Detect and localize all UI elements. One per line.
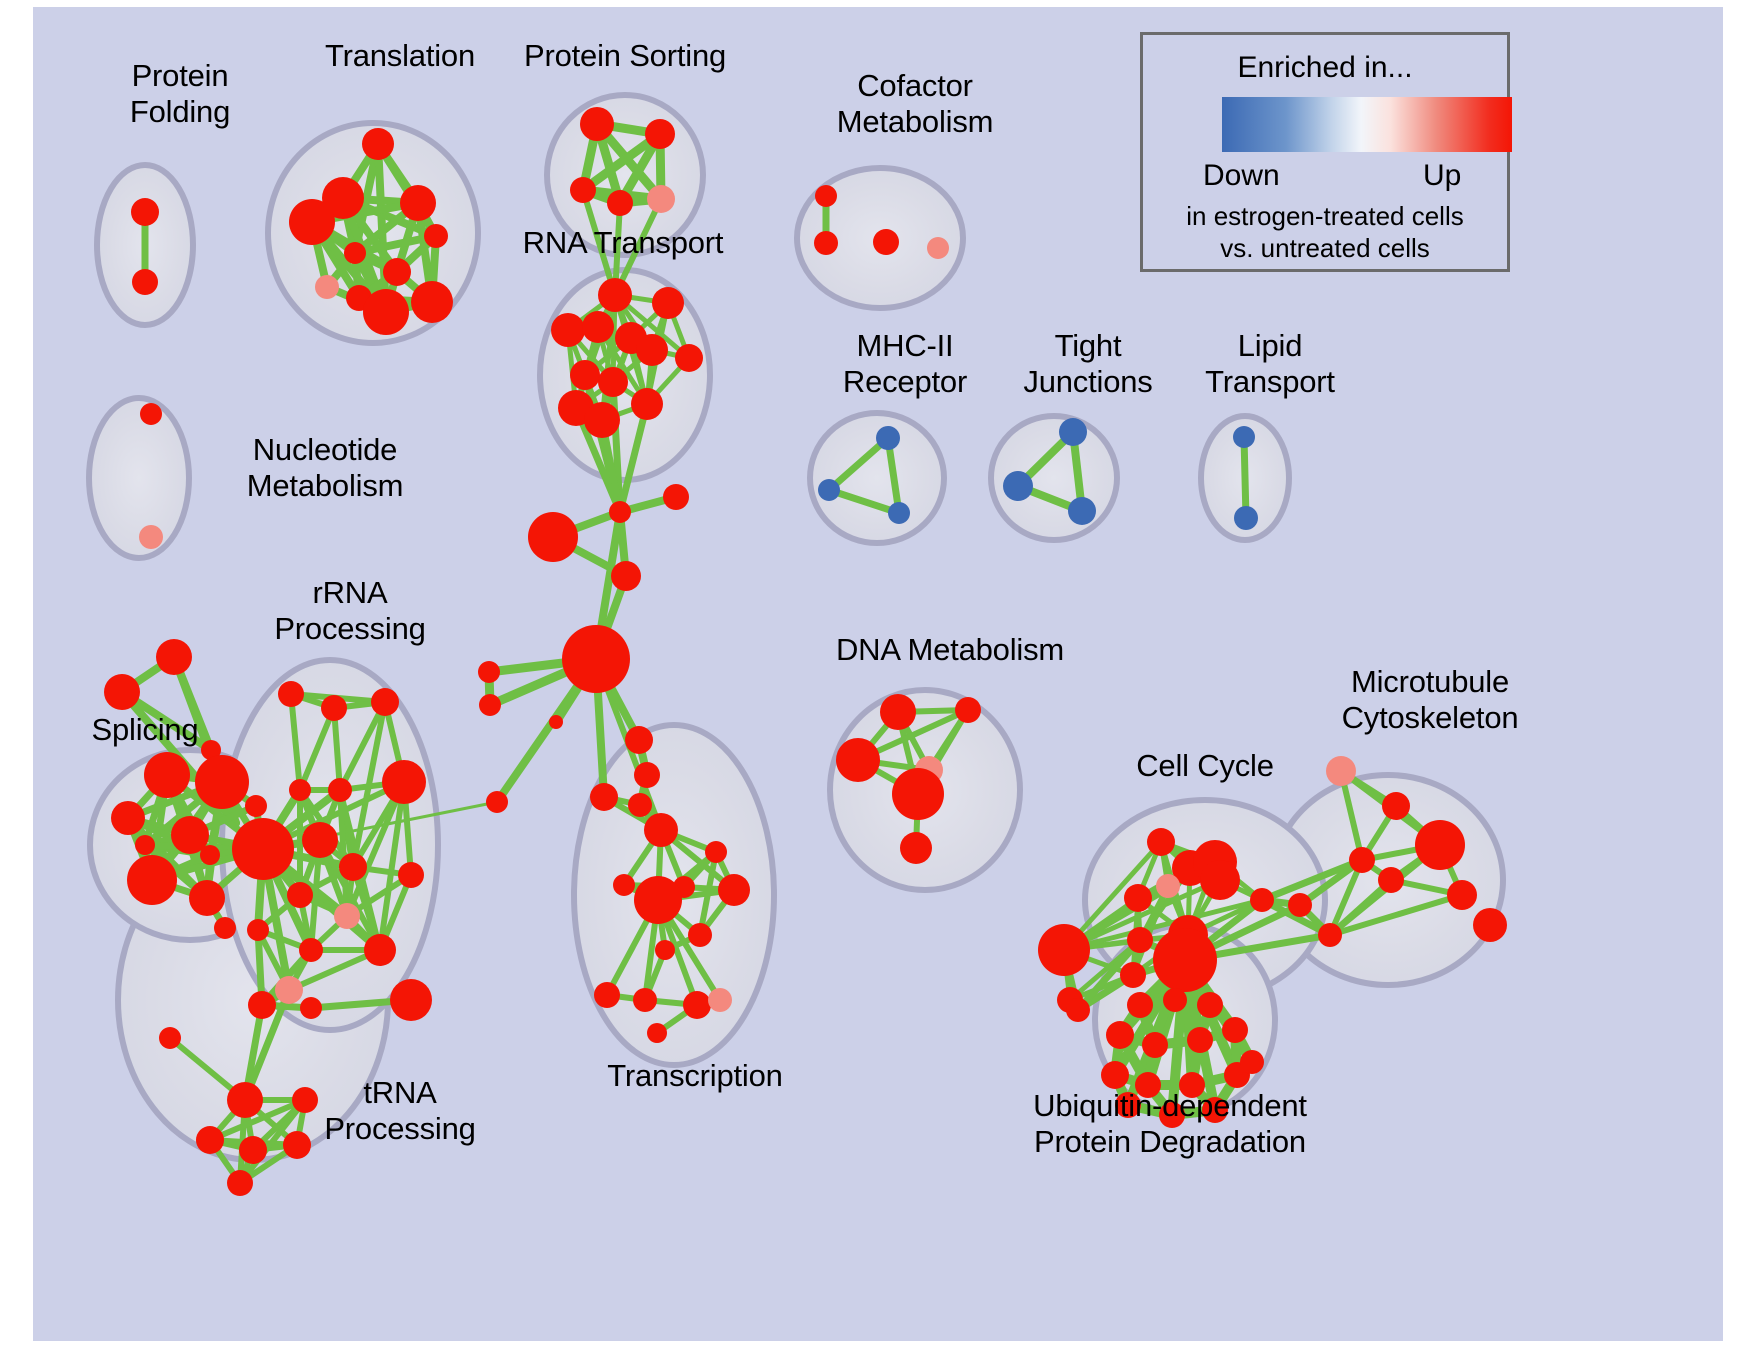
node: [248, 991, 276, 1019]
node: [1318, 923, 1342, 947]
node: [570, 177, 596, 203]
node: [300, 997, 322, 1019]
cluster-label-ubiquitin-degradation: Ubiquitin-dependent Protein Degradation: [980, 1088, 1360, 1160]
cluster-label-rna-transport: RNA Transport: [498, 225, 748, 261]
node: [1106, 1021, 1134, 1049]
cluster-label-transcription: Transcription: [570, 1058, 820, 1094]
node: [339, 853, 367, 881]
node: [232, 818, 294, 880]
node: [1222, 1017, 1248, 1043]
node: [478, 661, 500, 683]
node: [582, 311, 614, 343]
node: [398, 862, 424, 888]
node: [634, 876, 682, 924]
node: [955, 697, 981, 723]
cluster-label-cofactor-metabolism: Cofactor Metabolism: [790, 68, 1040, 140]
network-figure: Protein Folding Translation Protein Sort…: [0, 0, 1750, 1360]
node: [214, 917, 236, 939]
node: [275, 976, 303, 1004]
node: [1197, 992, 1223, 1018]
node: [371, 688, 399, 716]
legend-subtitle-line1: in estrogen-treated cells: [1143, 201, 1507, 232]
node: [1473, 908, 1507, 942]
node: [645, 119, 675, 149]
node: [1101, 1061, 1129, 1089]
node: [625, 726, 653, 754]
node: [613, 874, 635, 896]
node: [1156, 874, 1180, 898]
node: [880, 694, 916, 730]
node: [1234, 506, 1258, 530]
node: [888, 502, 910, 524]
node: [411, 281, 453, 323]
node: [328, 778, 352, 802]
node: [818, 479, 840, 501]
node: [1240, 1050, 1264, 1074]
node: [900, 832, 932, 864]
cluster-label-trna-processing: tRNA Processing: [300, 1075, 500, 1147]
node: [570, 360, 600, 390]
node: [590, 783, 618, 811]
node: [239, 1136, 267, 1164]
cluster-label-cell-cycle: Cell Cycle: [1105, 748, 1305, 784]
legend-subtitle-line2: vs. untreated cells: [1143, 233, 1507, 264]
node: [647, 185, 675, 213]
node: [598, 367, 628, 397]
node: [1233, 426, 1255, 448]
cluster-halo-mhc-ii-receptor: [810, 413, 944, 543]
node: [836, 738, 880, 782]
node: [247, 919, 269, 941]
node: [195, 755, 249, 809]
node: [1124, 884, 1152, 912]
node: [628, 793, 652, 817]
node: [892, 768, 944, 820]
node: [1288, 893, 1312, 917]
node: [549, 715, 563, 729]
node: [663, 484, 689, 510]
node: [1250, 888, 1274, 912]
cluster-label-translation: Translation: [280, 38, 520, 74]
node: [400, 185, 436, 221]
node: [1003, 471, 1033, 501]
node: [1127, 992, 1153, 1018]
legend-title: Enriched in...: [1143, 51, 1507, 85]
node: [344, 242, 366, 264]
node: [1447, 880, 1477, 910]
node: [334, 903, 360, 929]
cluster-halo-nucleotide-metabolism: [89, 398, 189, 558]
node: [1059, 418, 1087, 446]
node: [424, 224, 448, 248]
node: [1382, 792, 1410, 820]
node: [363, 289, 409, 335]
node: [1349, 847, 1375, 873]
legend-up-label: Up: [1423, 159, 1461, 193]
node: [156, 639, 192, 675]
node: [1378, 867, 1404, 893]
node: [611, 561, 641, 591]
node: [594, 982, 620, 1008]
node: [245, 795, 267, 817]
cluster-label-splicing: Splicing: [55, 712, 235, 748]
node: [528, 512, 578, 562]
node: [580, 107, 614, 141]
node: [131, 198, 159, 226]
node: [708, 988, 732, 1012]
node: [1120, 962, 1146, 988]
node: [364, 934, 396, 966]
node: [584, 402, 620, 438]
node: [127, 855, 177, 905]
node: [1068, 497, 1096, 525]
legend-down-label: Down: [1203, 159, 1280, 193]
node: [135, 835, 155, 855]
node: [1415, 820, 1465, 870]
node: [633, 988, 657, 1012]
node: [551, 313, 585, 347]
node: [321, 695, 347, 721]
cluster-label-lipid-transport: Lipid Transport: [1160, 328, 1380, 400]
node: [299, 938, 323, 962]
node: [302, 822, 338, 858]
node: [683, 991, 711, 1019]
node: [647, 1023, 667, 1043]
cluster-label-rrna-processing: rRNA Processing: [245, 575, 455, 647]
node: [289, 199, 335, 245]
node: [382, 760, 426, 804]
node: [132, 269, 158, 295]
legend-box: Enriched in... Down Up in estrogen-treat…: [1140, 32, 1510, 272]
node: [718, 874, 750, 906]
node: [1147, 828, 1175, 856]
node: [1153, 928, 1217, 992]
node: [1142, 1032, 1168, 1058]
node: [598, 278, 632, 312]
node: [287, 882, 313, 908]
cluster-label-dna-metabolism: DNA Metabolism: [820, 632, 1080, 668]
node: [278, 681, 304, 707]
node: [1038, 924, 1090, 976]
node: [362, 128, 394, 160]
node: [140, 403, 162, 425]
node: [652, 287, 684, 319]
node: [104, 674, 140, 710]
color-scale-bar: [1222, 97, 1512, 152]
node: [927, 237, 949, 259]
node: [607, 190, 633, 216]
node: [562, 625, 630, 693]
node: [159, 1027, 181, 1049]
cluster-label-microtubule-cytoskeleton: Microtubule Cytoskeleton: [1300, 664, 1560, 736]
node: [383, 258, 411, 286]
node: [390, 979, 432, 1021]
node: [189, 880, 225, 916]
node: [479, 694, 501, 716]
node: [315, 275, 339, 299]
node: [814, 231, 838, 255]
node: [644, 813, 678, 847]
node: [1326, 756, 1356, 786]
node: [1200, 860, 1240, 900]
node: [876, 426, 900, 450]
node: [200, 845, 220, 865]
node: [139, 525, 163, 549]
node: [111, 801, 145, 835]
cluster-label-protein-sorting: Protein Sorting: [500, 38, 750, 74]
node: [873, 229, 899, 255]
node: [1163, 988, 1187, 1012]
node: [815, 185, 837, 207]
node: [227, 1082, 263, 1118]
node: [634, 762, 660, 788]
node: [631, 388, 663, 420]
node: [675, 344, 703, 372]
node: [196, 1126, 224, 1154]
cluster-label-protein-folding: Protein Folding: [80, 58, 280, 130]
node: [609, 501, 631, 523]
node: [144, 752, 190, 798]
node: [227, 1170, 253, 1196]
node: [655, 940, 675, 960]
node: [486, 791, 508, 813]
cluster-label-nucleotide-metabolism: Nucleotide Metabolism: [200, 432, 450, 504]
node: [636, 334, 668, 366]
node: [688, 923, 712, 947]
node: [289, 779, 311, 801]
node: [1066, 998, 1090, 1022]
node: [705, 841, 727, 863]
node: [1127, 927, 1153, 953]
node: [1187, 1027, 1213, 1053]
